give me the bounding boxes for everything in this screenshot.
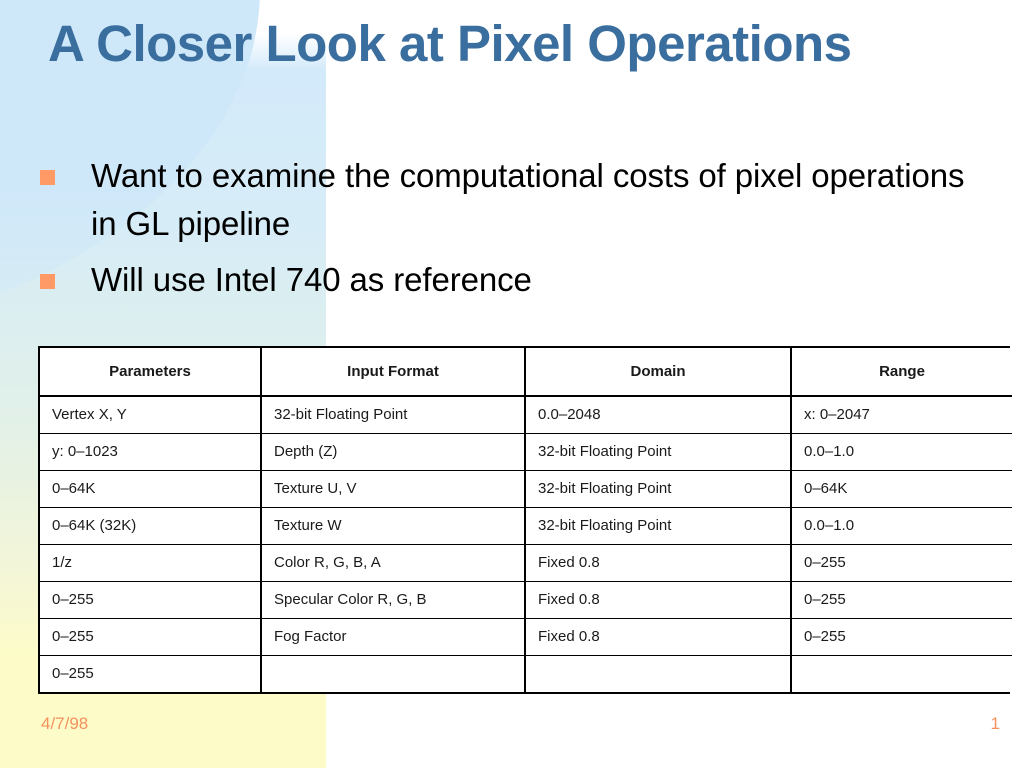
table-cell-parameters: 0–255 [40,618,261,655]
table-header-range: Range [791,348,1012,396]
list-item: Will use Intel 740 as reference [40,256,990,304]
table-cell-domain: 0.0–2048 [525,396,791,433]
table-row: 0–255 Specular Color R, G, B Fixed 0.8 0… [40,581,1012,618]
slide-canvas: A Closer Look at Pixel Operations Want t… [0,0,1024,768]
table-row: 0–255 [40,655,1012,692]
table-cell-parameters: 0–255 [40,581,261,618]
table-cell-range [791,655,1012,692]
table-cell-domain: Fixed 0.8 [525,581,791,618]
table-cell-range: 0–255 [791,618,1012,655]
table-cell-domain: 32-bit Floating Point [525,470,791,507]
table-cell-parameters: 0–64K (32K) [40,507,261,544]
table-cell-range: 0–255 [791,544,1012,581]
table-cell-parameters: 0–64K [40,470,261,507]
table-cell-domain [525,655,791,692]
table-cell-range: 0–255 [791,581,1012,618]
table-row: 0–64K Texture U, V 32-bit Floating Point… [40,470,1012,507]
table-cell-range: x: 0–2047 [791,396,1012,433]
table-cell-parameters: Vertex X, Y [40,396,261,433]
table-cell-input-format: Specular Color R, G, B [261,581,525,618]
table-cell-domain: Fixed 0.8 [525,544,791,581]
square-bullet-icon [40,170,55,185]
table-cell-input-format: Color R, G, B, A [261,544,525,581]
table-cell-domain: 32-bit Floating Point [525,507,791,544]
table-cell-input-format: 32-bit Floating Point [261,396,525,433]
table-cell-input-format: Texture W [261,507,525,544]
bullet-text: Will use Intel 740 as reference [55,256,990,304]
table-header-row: Parameters Input Format Domain Range [40,348,1012,396]
table-row: 0–255 Fog Factor Fixed 0.8 0–255 [40,618,1012,655]
table-cell-domain: Fixed 0.8 [525,618,791,655]
page-title: A Closer Look at Pixel Operations [48,18,948,70]
table-cell-input-format: Fog Factor [261,618,525,655]
footer-date: 4/7/98 [41,714,88,734]
table-cell-range: 0–64K [791,470,1012,507]
table-cell-range: 0.0–1.0 [791,433,1012,470]
table-row: 0–64K (32K) Texture W 32-bit Floating Po… [40,507,1012,544]
list-item: Want to examine the computational costs … [40,152,990,248]
table-cell-input-format: Texture U, V [261,470,525,507]
bullet-text: Want to examine the computational costs … [55,152,990,248]
table-header-domain: Domain [525,348,791,396]
spec-table-container: Parameters Input Format Domain Range Ver… [38,346,1010,694]
table-cell-parameters: 0–255 [40,655,261,692]
table-row: 1/z Color R, G, B, A Fixed 0.8 0–255 [40,544,1012,581]
footer-page-number: 1 [991,714,1000,734]
spec-table: Parameters Input Format Domain Range Ver… [40,348,1012,692]
table-header-parameters: Parameters [40,348,261,396]
table-cell-range: 0.0–1.0 [791,507,1012,544]
table-cell-input-format [261,655,525,692]
table-row: y: 0–1023 Depth (Z) 32-bit Floating Poin… [40,433,1012,470]
square-bullet-icon [40,274,55,289]
table-cell-parameters: y: 0–1023 [40,433,261,470]
table-cell-domain: 32-bit Floating Point [525,433,791,470]
table-header-input-format: Input Format [261,348,525,396]
table-row: Vertex X, Y 32-bit Floating Point 0.0–20… [40,396,1012,433]
table-cell-parameters: 1/z [40,544,261,581]
table-cell-input-format: Depth (Z) [261,433,525,470]
bullet-list: Want to examine the computational costs … [40,152,990,312]
